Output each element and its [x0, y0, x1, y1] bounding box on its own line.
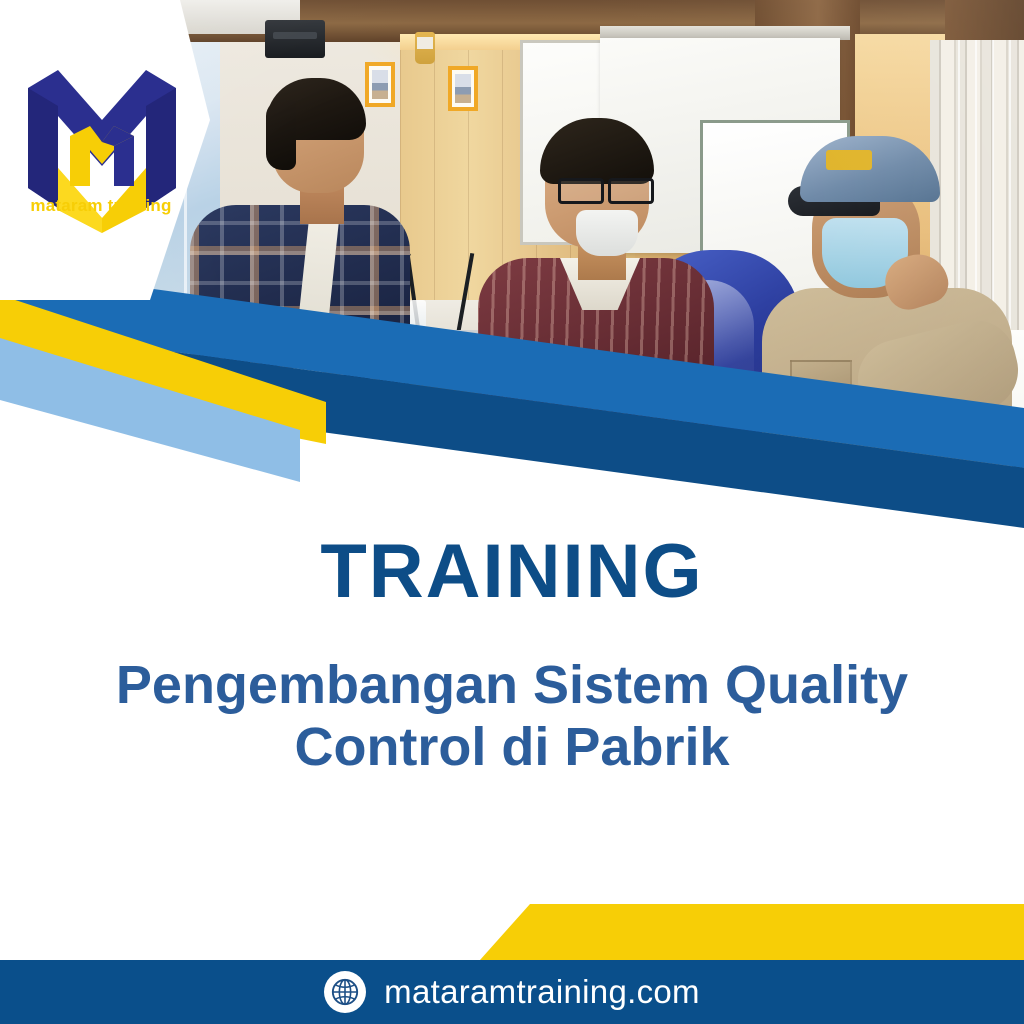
person-plaid-shirt-hair-side — [266, 100, 296, 170]
promotional-poster: mataram training TRAINING Pengembangan S… — [0, 0, 1024, 1024]
footer-bar: mataramtraining.com — [0, 960, 1024, 1024]
subtitle-line-1: Pengembangan Sistem Quality — [60, 655, 964, 717]
person-glasses-eyewear — [558, 178, 654, 198]
person-glasses-chin-mask — [576, 210, 638, 256]
wall-emblem — [415, 32, 435, 64]
official-portrait-left — [365, 62, 395, 107]
official-portrait-right — [448, 66, 478, 111]
subtitle-line-2: Control di Pabrik — [60, 717, 964, 779]
brand-wordmark: mataram training — [8, 196, 194, 216]
footer-yellow-accent — [0, 904, 1024, 960]
subtitle: Pengembangan Sistem Quality Control di P… — [60, 655, 964, 778]
person-cap-logo — [826, 150, 872, 170]
page-title: TRAINING — [0, 528, 1024, 615]
projector — [265, 20, 325, 58]
website-url[interactable]: mataramtraining.com — [384, 973, 700, 1011]
globe-icon — [324, 971, 366, 1013]
